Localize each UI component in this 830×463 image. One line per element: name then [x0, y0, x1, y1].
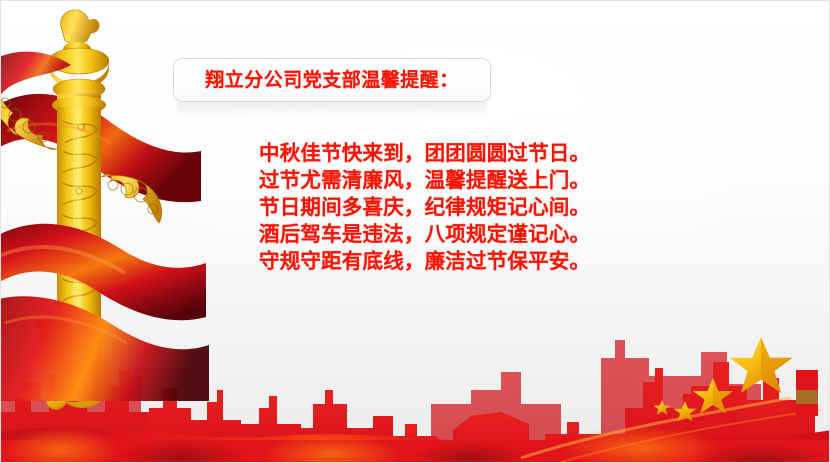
page-title: 翔立分公司党支部温馨提醒：: [205, 71, 459, 90]
poster-canvas: 翔立分公司党支部温馨提醒： 中秋佳节快来到，团团圆圆过节日。 过节尤需清廉风，温…: [0, 0, 830, 463]
title-box: 翔立分公司党支部温馨提醒：: [173, 58, 491, 102]
poem-line: 守规守距有底线，廉洁过节保平安。: [259, 248, 619, 275]
poem-line: 过节尤需清廉风，温馨提醒送上门。: [259, 167, 619, 194]
poem-line: 中秋佳节快来到，团团圆圆过节日。: [259, 140, 619, 167]
title-box-reflection: [177, 103, 487, 117]
right-pillar-band: [796, 390, 818, 404]
poem-body: 中秋佳节快来到，团团圆圆过节日。 过节尤需清廉风，温馨提醒送上门。 节日期间多喜…: [259, 140, 619, 275]
poem-line: 节日期间多喜庆，纪律规矩记心间。: [259, 194, 619, 221]
poem-line: 酒后驾车是违法，八项规定谨记心。: [259, 221, 619, 248]
